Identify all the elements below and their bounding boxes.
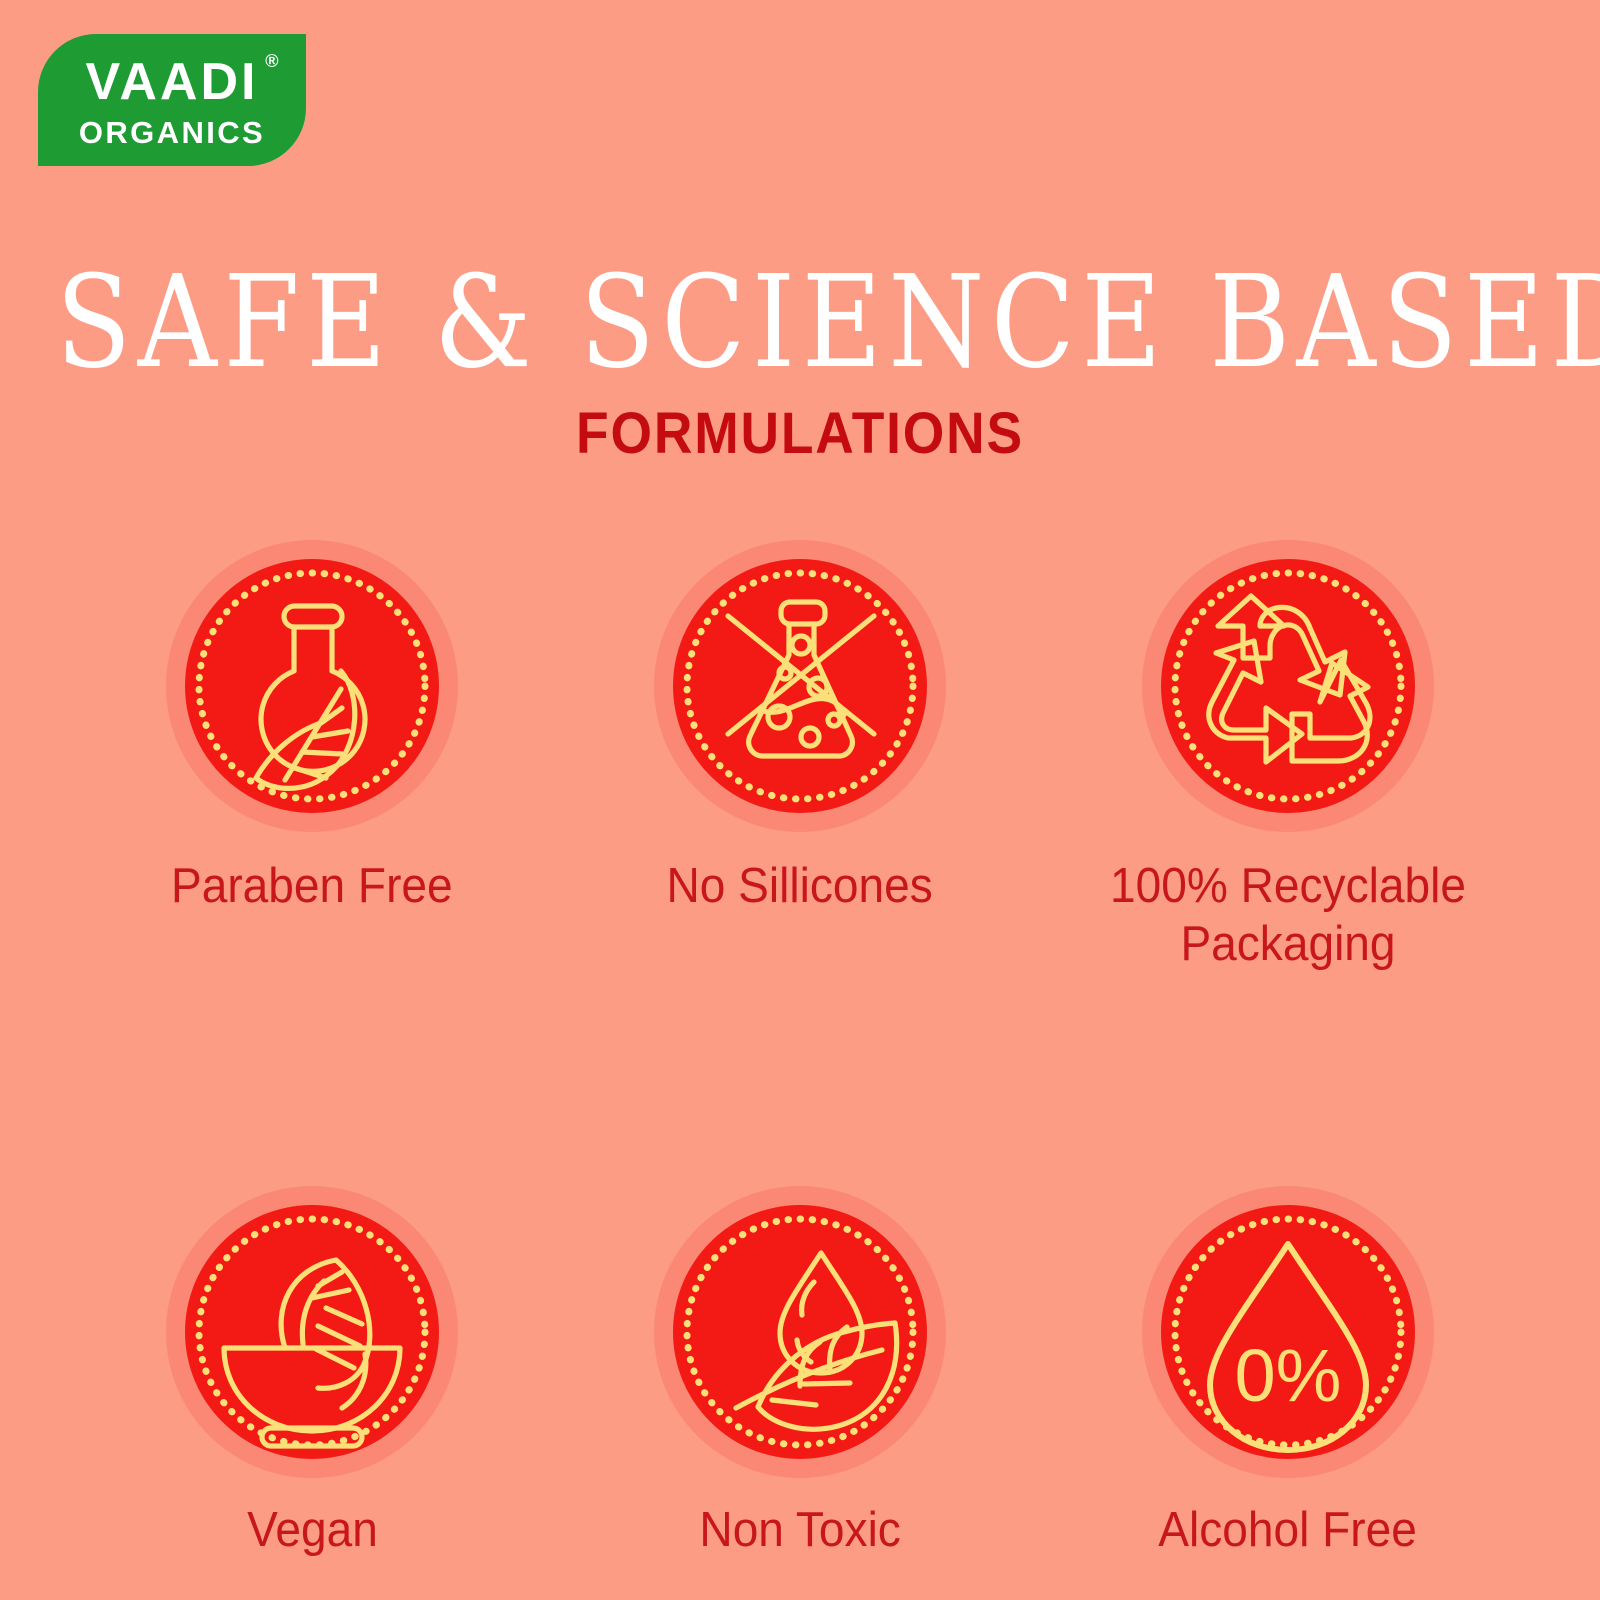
crossed-out-erlenmeyer-flask-icon — [654, 540, 946, 832]
badge-no-sillicones — [654, 540, 946, 832]
feature-item: 0% Alcohol Free — [1044, 1186, 1532, 1560]
droplet-zero-percent-icon: 0% — [1142, 1186, 1434, 1478]
badge-vegan — [166, 1186, 458, 1478]
badge-recyclable-packaging — [1142, 540, 1434, 832]
badge-label: Vegan — [247, 1502, 378, 1560]
feature-item: Paraben Free — [68, 540, 556, 974]
brand-name-text: VAADI — [86, 53, 259, 111]
feature-item: Non Toxic — [556, 1186, 1044, 1560]
flask-with-leaf-icon — [166, 540, 458, 832]
recycling-arrows-icon — [1142, 540, 1434, 832]
registered-trademark-icon: ® — [265, 52, 278, 70]
badge-label: Non Toxic — [699, 1502, 900, 1560]
droplet-value-label: 0% — [1235, 1334, 1342, 1417]
brand-tagline: ORGANICS — [79, 117, 265, 148]
page-subtitle: FORMULATIONS — [64, 405, 1536, 463]
feature-item: 100% Recyclable Packaging — [1044, 540, 1532, 974]
brand-logo: VAADI® ORGANICS — [38, 34, 306, 166]
feature-item: Vegan — [68, 1186, 556, 1560]
feature-badge-grid: Paraben Free — [68, 540, 1532, 1559]
badge-label: Alcohol Free — [1159, 1502, 1418, 1560]
badge-alcohol-free: 0% — [1142, 1186, 1434, 1478]
bowl-with-leaf-icon — [166, 1186, 458, 1478]
badge-label: Paraben Free — [171, 858, 453, 916]
page-title: SAFE & SCIENCE BASED — [56, 258, 1544, 385]
badge-non-toxic — [654, 1186, 946, 1478]
badge-label: No Sillicones — [667, 858, 933, 916]
badge-label: 100% Recyclable Packaging — [1086, 858, 1490, 974]
feature-item: No Sillicones — [556, 540, 1044, 974]
brand-name: VAADI® — [86, 56, 259, 108]
droplet-on-leaf-icon — [654, 1186, 946, 1478]
badge-paraben-free — [166, 540, 458, 832]
